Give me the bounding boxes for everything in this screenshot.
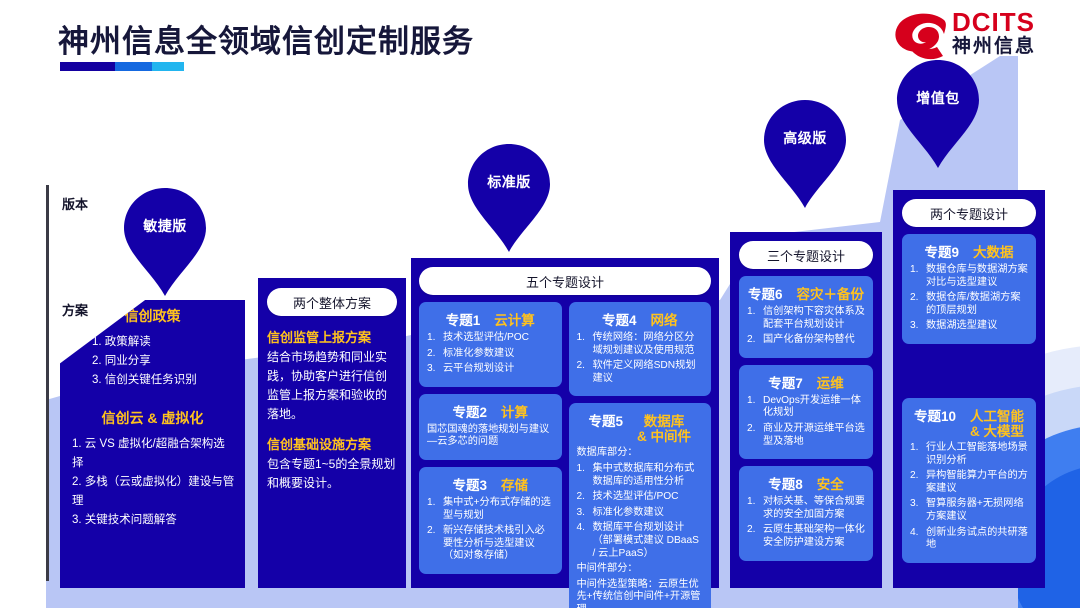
- topic-card[interactable]: 专题9 大数据 1.数据仓库与数据湖方案对比与选型建议 2.数据仓库/数据湖方案…: [902, 234, 1036, 344]
- list-item: 1. 云 VS 虚拟化/超融合架构选择: [72, 435, 235, 473]
- topic-subheading: 数据库部分：: [577, 447, 704, 460]
- map-pin-icon: [466, 142, 552, 254]
- page-title: 神州信息全领域信创定制服务: [58, 16, 474, 61]
- block-text: 包含专题1~5的全景规划和概要设计。: [267, 455, 397, 493]
- topic-card[interactable]: 专题7 运维 1.DevOps开发运维一体化规划 2.商业及开源运维平台选型及落…: [739, 365, 873, 459]
- list-item: 1.DevOps开发运维一体化规划: [747, 395, 865, 420]
- topic-number: 专题1: [446, 309, 481, 329]
- map-pin-label: 增值包: [895, 88, 981, 108]
- list-item: 1.集中式+分布式存储的选型与规划: [427, 497, 554, 522]
- group-heading: 信创云 & 虚拟化: [70, 408, 235, 428]
- list-item: 1.数据仓库与数据湖方案对比与选型建议: [910, 264, 1028, 289]
- column-five-topics[interactable]: 五个专题设计 专题1 云计算 1.技术选型评估/POC 2.标准化参: [411, 258, 719, 588]
- topic-card[interactable]: 专题2 计算 国芯国魂的落地规划与建议—云多芯的问题: [419, 394, 562, 460]
- list-item: 1.信创架构下容灾体系及配套平台规划设计: [747, 306, 865, 331]
- map-pin-icon: [895, 58, 981, 170]
- list-item: 1.行业人工智能落地场景识别分析: [910, 442, 1028, 467]
- topic-number: 专题7: [768, 372, 803, 392]
- list-item: 3.云平台规划设计: [427, 363, 554, 376]
- topic-tag: 云计算: [494, 313, 535, 328]
- list-item: 4.创新业务试点的共研落地: [910, 527, 1028, 552]
- map-pin-advanced[interactable]: 高级版: [762, 98, 848, 210]
- topic-text: 中间件选型策略：云原生优先+传统信创中间件+开源管理: [577, 579, 704, 608]
- group-heading: 信创政策: [70, 306, 235, 326]
- list-item: 2.云原生基础架构一体化安全防护建设方案: [747, 524, 865, 549]
- block-text: 结合市场趋势和同业实践，协助客户进行信创监管上报方案和验收的落地。: [267, 348, 397, 424]
- column-pill-header: 两个整体方案: [267, 288, 397, 316]
- column-two-topics[interactable]: 两个专题设计 专题9 大数据 1.数据仓库与数据湖方案对比与选型建议 2.数据仓…: [893, 190, 1045, 588]
- column-two-overall-plans-body: 两个整体方案 信创监管上报方案 结合市场趋势和同业实践，协助客户进行信创监管上报…: [258, 278, 406, 588]
- topic-tag: 安全: [817, 477, 844, 492]
- list-item: 3.标准化参数建议: [577, 507, 704, 520]
- map-pin-icon: [122, 186, 208, 298]
- list-item: 2.数据仓库/数据湖方案的顶层规划: [910, 292, 1028, 317]
- topic-tag: 容灾＋备份: [797, 287, 865, 302]
- block-heading: 信创基础设施方案: [267, 434, 397, 453]
- list-item: 4.数据库平台规划设计（部署模式建议 DBaaS / 云上PaaS）: [577, 522, 704, 560]
- list-item: 2.技术选型评估/POC: [577, 491, 704, 504]
- topic-number: 专题4: [602, 309, 637, 329]
- topic-tag: 人工智能 & 大模型: [970, 409, 1024, 439]
- list-item: 2.软件定义网络SDN规划建议: [577, 360, 704, 385]
- topic-tag: 存储: [501, 478, 528, 493]
- topic-number: 专题2: [452, 401, 487, 421]
- topic-number: 专题3: [452, 474, 487, 494]
- topic-subheading: 中间件部分：: [577, 563, 704, 576]
- map-pin-icon: [762, 98, 848, 210]
- list-item: 1.对标关基、等保合规要求的安全加固方案: [747, 496, 865, 521]
- block-heading: 信创监管上报方案: [267, 327, 397, 346]
- column-two-overall-plans[interactable]: 两个整体方案 信创监管上报方案 结合市场趋势和同业实践，协助客户进行信创监管上报…: [258, 278, 406, 588]
- axis-vertical-line: [46, 185, 49, 581]
- list-item: 3.智算服务器+无损网络方案建议: [910, 498, 1028, 523]
- list-item: 3. 关键技术问题解答: [72, 511, 235, 530]
- map-pin-value-added[interactable]: 增值包: [895, 58, 981, 170]
- list-item: 2. 同业分享: [92, 352, 235, 371]
- column-agile-body: 信创政策 1. 政策解读 2. 同业分享 3. 信创关键任务识别 信创云 & 虚…: [60, 300, 245, 588]
- column-five-topics-body: 五个专题设计 专题1 云计算 1.技术选型评估/POC 2.标准化参: [411, 258, 719, 588]
- topic-card[interactable]: 专题5 数据库 & 中间件 数据库部分： 1.集中式数据库和分布式数据库的适用性…: [569, 403, 712, 608]
- topic-tag: 网络: [651, 313, 678, 328]
- topic-text: 国芯国魂的落地规划与建议—云多芯的问题: [427, 424, 554, 449]
- logo-text-cn: 神州信息: [952, 36, 1066, 58]
- column-pill-header: 两个专题设计: [902, 199, 1036, 227]
- topic-number: 专题10: [914, 405, 956, 425]
- list-item: 2.标准化参数建议: [427, 348, 554, 361]
- list-item: 2.国产化备份架构替代: [747, 334, 865, 347]
- topic-tag: 计算: [501, 405, 528, 420]
- column-agile[interactable]: 信创政策 1. 政策解读 2. 同业分享 3. 信创关键任务识别 信创云 & 虚…: [60, 300, 245, 588]
- topic-card[interactable]: 专题3 存储 1.集中式+分布式存储的选型与规划 2.新兴存储技术栈引入必要性分…: [419, 467, 562, 574]
- topic-card[interactable]: 专题1 云计算 1.技术选型评估/POC 2.标准化参数建议 3.云平台规划设计: [419, 302, 562, 387]
- map-pin-label: 高级版: [762, 128, 848, 148]
- axis-label-version: 版本: [62, 194, 88, 213]
- map-pin-standard[interactable]: 标准版: [466, 142, 552, 254]
- topic-card[interactable]: 专题10 人工智能 & 大模型 1.行业人工智能落地场景识别分析 2.异构智能算…: [902, 398, 1036, 563]
- column-pill-header: 三个专题设计: [739, 241, 873, 269]
- topic-number: 专题9: [924, 241, 959, 261]
- list-item: 1.技术选型评估/POC: [427, 332, 554, 345]
- map-pin-agile[interactable]: 敏捷版: [122, 186, 208, 298]
- list-item: 3.数据湖选型建议: [910, 320, 1028, 333]
- logo-swoosh-icon: [894, 12, 952, 64]
- list-item: 1.传统网络：网络分区分域规划建议及使用规范: [577, 332, 704, 357]
- logo-text-en: DCITS: [952, 8, 1066, 36]
- slide-canvas: 神州信息全领域信创定制服务 DCITS 神州信息 版本 方案 信创政策 1. 政…: [0, 0, 1080, 608]
- topic-card[interactable]: 专题4 网络 1.传统网络：网络分区分域规划建议及使用规范 2.软件定义网络SD…: [569, 302, 712, 396]
- topic-tag: 数据库 & 中间件: [637, 414, 691, 444]
- title-underline-rule: [60, 62, 184, 71]
- topic-card[interactable]: 专题6 容灾＋备份 1.信创架构下容灾体系及配套平台规划设计 2.国产化备份架构…: [739, 276, 873, 358]
- column-three-topics[interactable]: 三个专题设计 专题6 容灾＋备份 1.信创架构下容灾体系及配套平台规划设计 2.…: [730, 232, 882, 588]
- column-pill-header: 五个专题设计: [419, 267, 711, 295]
- list-item: 2.新兴存储技术栈引入必要性分析与选型建议（如对象存储）: [427, 525, 554, 563]
- list-item: 1.集中式数据库和分布式数据库的适用性分析: [577, 463, 704, 488]
- topic-number: 专题8: [768, 473, 803, 493]
- topic-tag: 大数据: [973, 245, 1014, 260]
- list-item: 2.异构智能算力平台的方案建议: [910, 470, 1028, 495]
- topic-number: 专题5: [588, 410, 623, 430]
- topic-number: 专题6: [748, 283, 783, 303]
- topic-tag: 运维: [817, 376, 844, 391]
- column-three-topics-body: 三个专题设计 专题6 容灾＋备份 1.信创架构下容灾体系及配套平台规划设计 2.…: [730, 232, 882, 588]
- topic-card[interactable]: 专题8 安全 1.对标关基、等保合规要求的安全加固方案 2.云原生基础架构一体化…: [739, 466, 873, 560]
- map-pin-label: 敏捷版: [122, 216, 208, 236]
- map-pin-label: 标准版: [466, 172, 552, 192]
- list-item: 1. 政策解读: [92, 333, 235, 352]
- list-item: 2.商业及开源运维平台选型及落地: [747, 423, 865, 448]
- list-item: 2. 多栈（云或虚拟化）建设与管理: [72, 473, 235, 511]
- list-item: 3. 信创关键任务识别: [92, 371, 235, 390]
- column-two-topics-body: 两个专题设计 专题9 大数据 1.数据仓库与数据湖方案对比与选型建议 2.数据仓…: [893, 190, 1045, 588]
